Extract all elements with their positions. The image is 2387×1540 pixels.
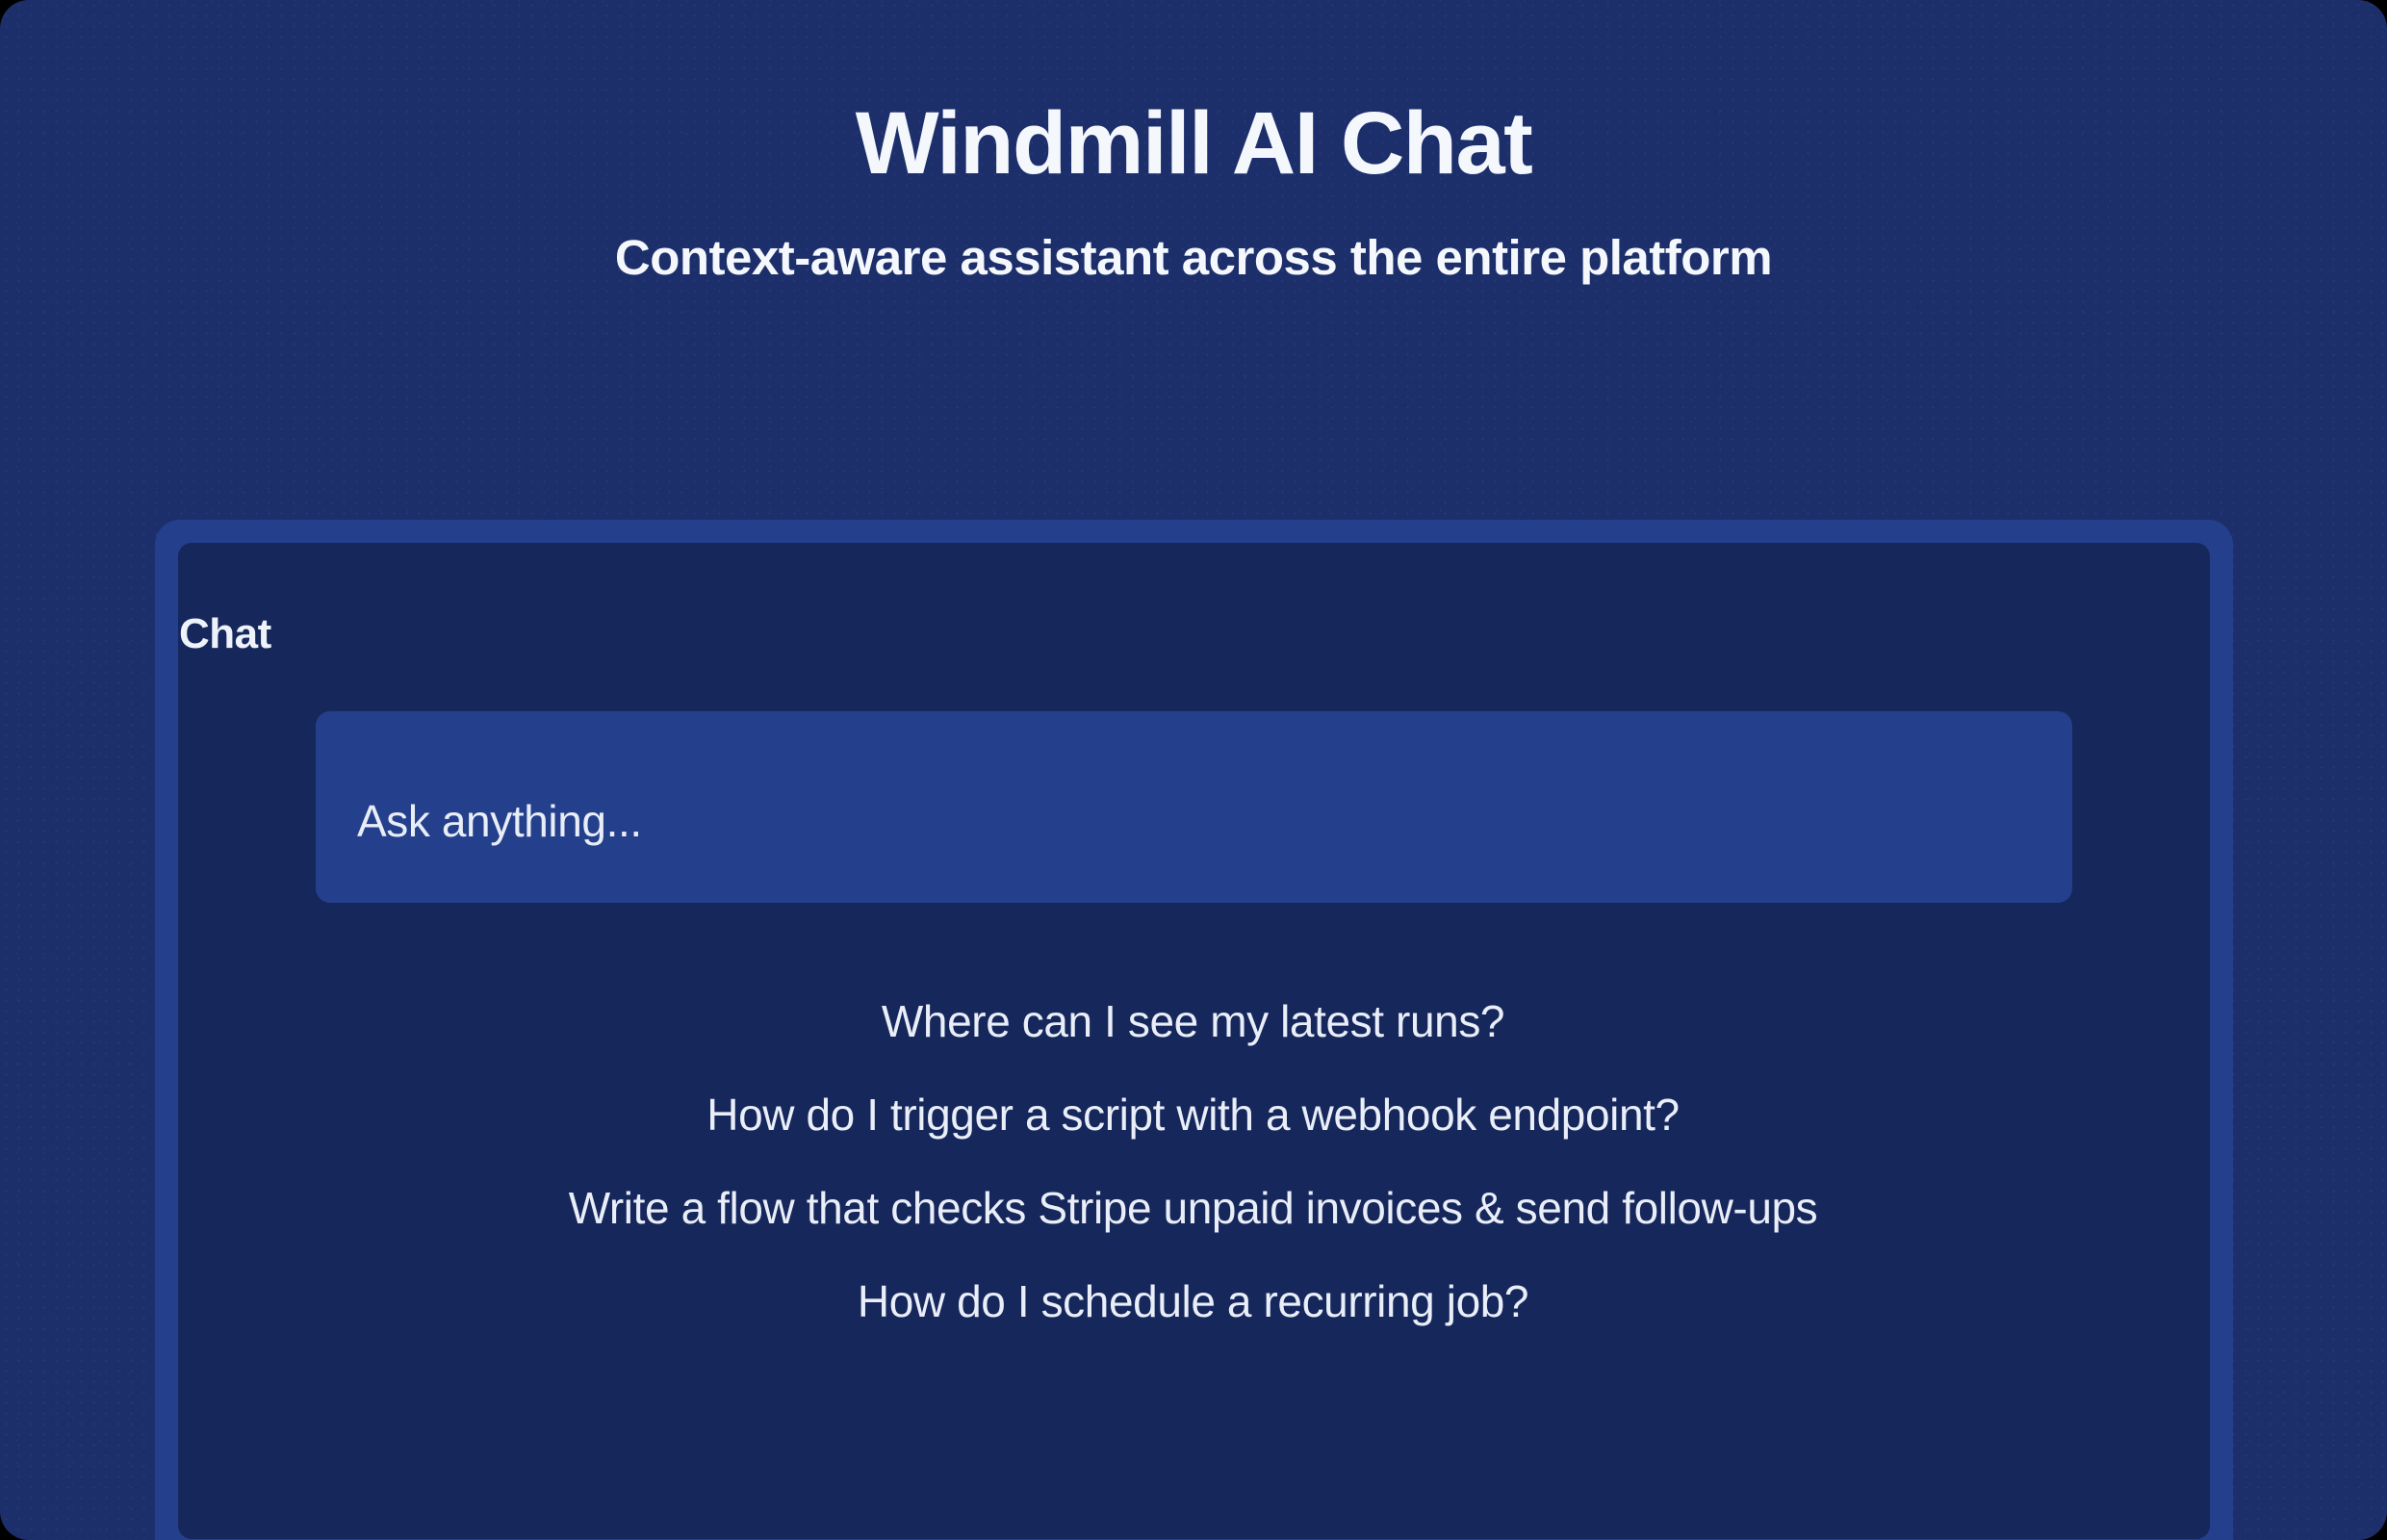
suggestion-item[interactable]: Where can I see my latest runs? [176,975,2210,1068]
suggestion-item[interactable]: Write a flow that checks Stripe unpaid i… [176,1162,2210,1255]
page-header: Windmill AI Chat Context-aware assistant… [0,0,2387,282]
chat-input[interactable] [316,711,2072,903]
page-title: Windmill AI Chat [0,0,2387,188]
suggestion-list: Where can I see my latest runs? How do I… [176,975,2210,1348]
page-subtitle: Context-aware assistant across the entir… [0,188,2387,282]
app-root: Windmill AI Chat Context-aware assistant… [0,0,2387,1540]
suggestion-item[interactable]: How do I schedule a recurring job? [176,1255,2210,1348]
suggestion-item[interactable]: How do I trigger a script with a webhook… [176,1068,2210,1162]
chat-section-label: Chat [179,613,271,655]
